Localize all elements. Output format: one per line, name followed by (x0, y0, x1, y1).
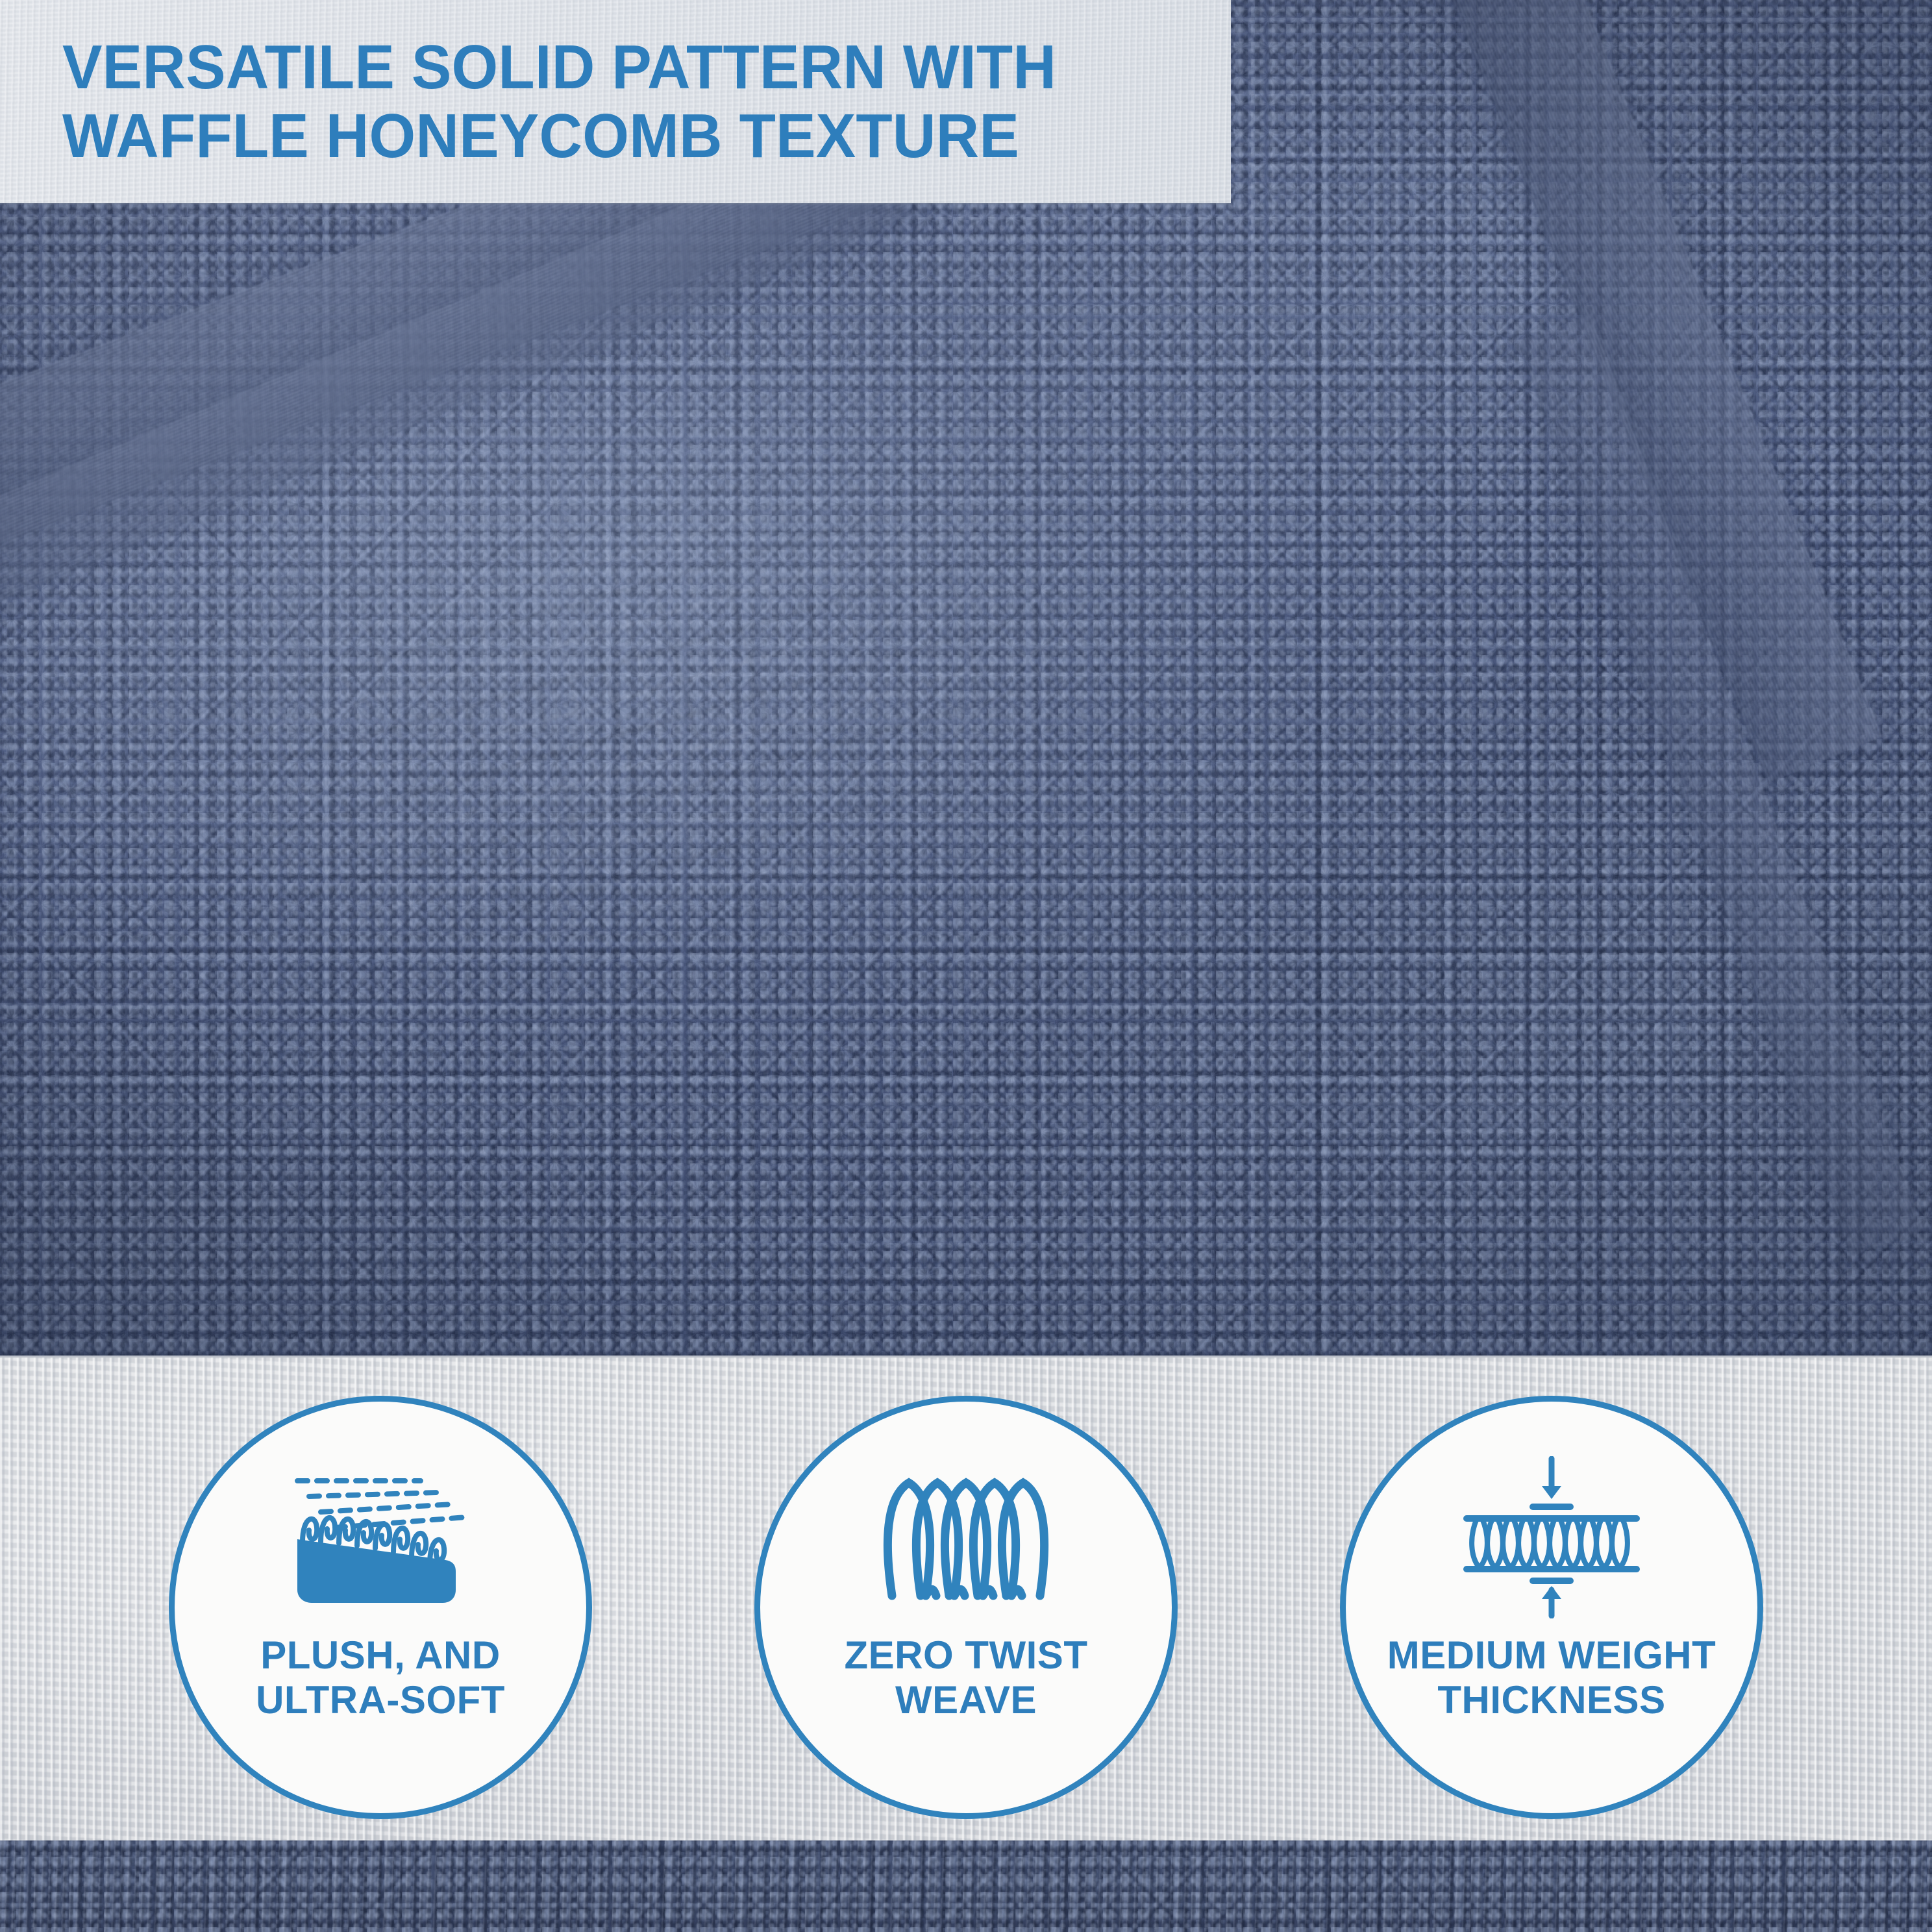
plush-pile-fabric-icon (283, 1456, 478, 1618)
feature-badge-plush-ultra-soft: Plush, And Ultra-Soft (169, 1396, 592, 1819)
title-banner: Versatile Solid Pattern With Waffle Hone… (0, 0, 1231, 203)
feature-badges-panel: Plush, And Ultra-Soft (0, 1356, 1932, 1842)
zero-twist-loops-icon (869, 1456, 1063, 1618)
strip-sheen-overlay (0, 1840, 1932, 1932)
page-title: Versatile Solid Pattern With Waffle Hone… (0, 33, 1082, 170)
feature-badge-zero-twist-weave: Zero Twist Weave (754, 1396, 1178, 1819)
bottom-towel-strip (0, 1840, 1932, 1932)
feature-badge-label: Medium Weight Thickness (1387, 1633, 1716, 1723)
thickness-compression-arrows-icon (1451, 1456, 1652, 1618)
feature-badge-label: Plush, And Ultra-Soft (256, 1633, 505, 1723)
hero-product-photo (0, 0, 1932, 1356)
product-feature-graphic: Versatile Solid Pattern With Waffle Hone… (0, 0, 1932, 1932)
feature-badge-label: Zero Twist Weave (845, 1633, 1088, 1723)
feature-badge-list: Plush, And Ultra-Soft (0, 1357, 1932, 1842)
photo-lighting-vignette (0, 0, 1932, 1356)
feature-badge-medium-weight-thickness: Medium Weight Thickness (1340, 1396, 1763, 1819)
